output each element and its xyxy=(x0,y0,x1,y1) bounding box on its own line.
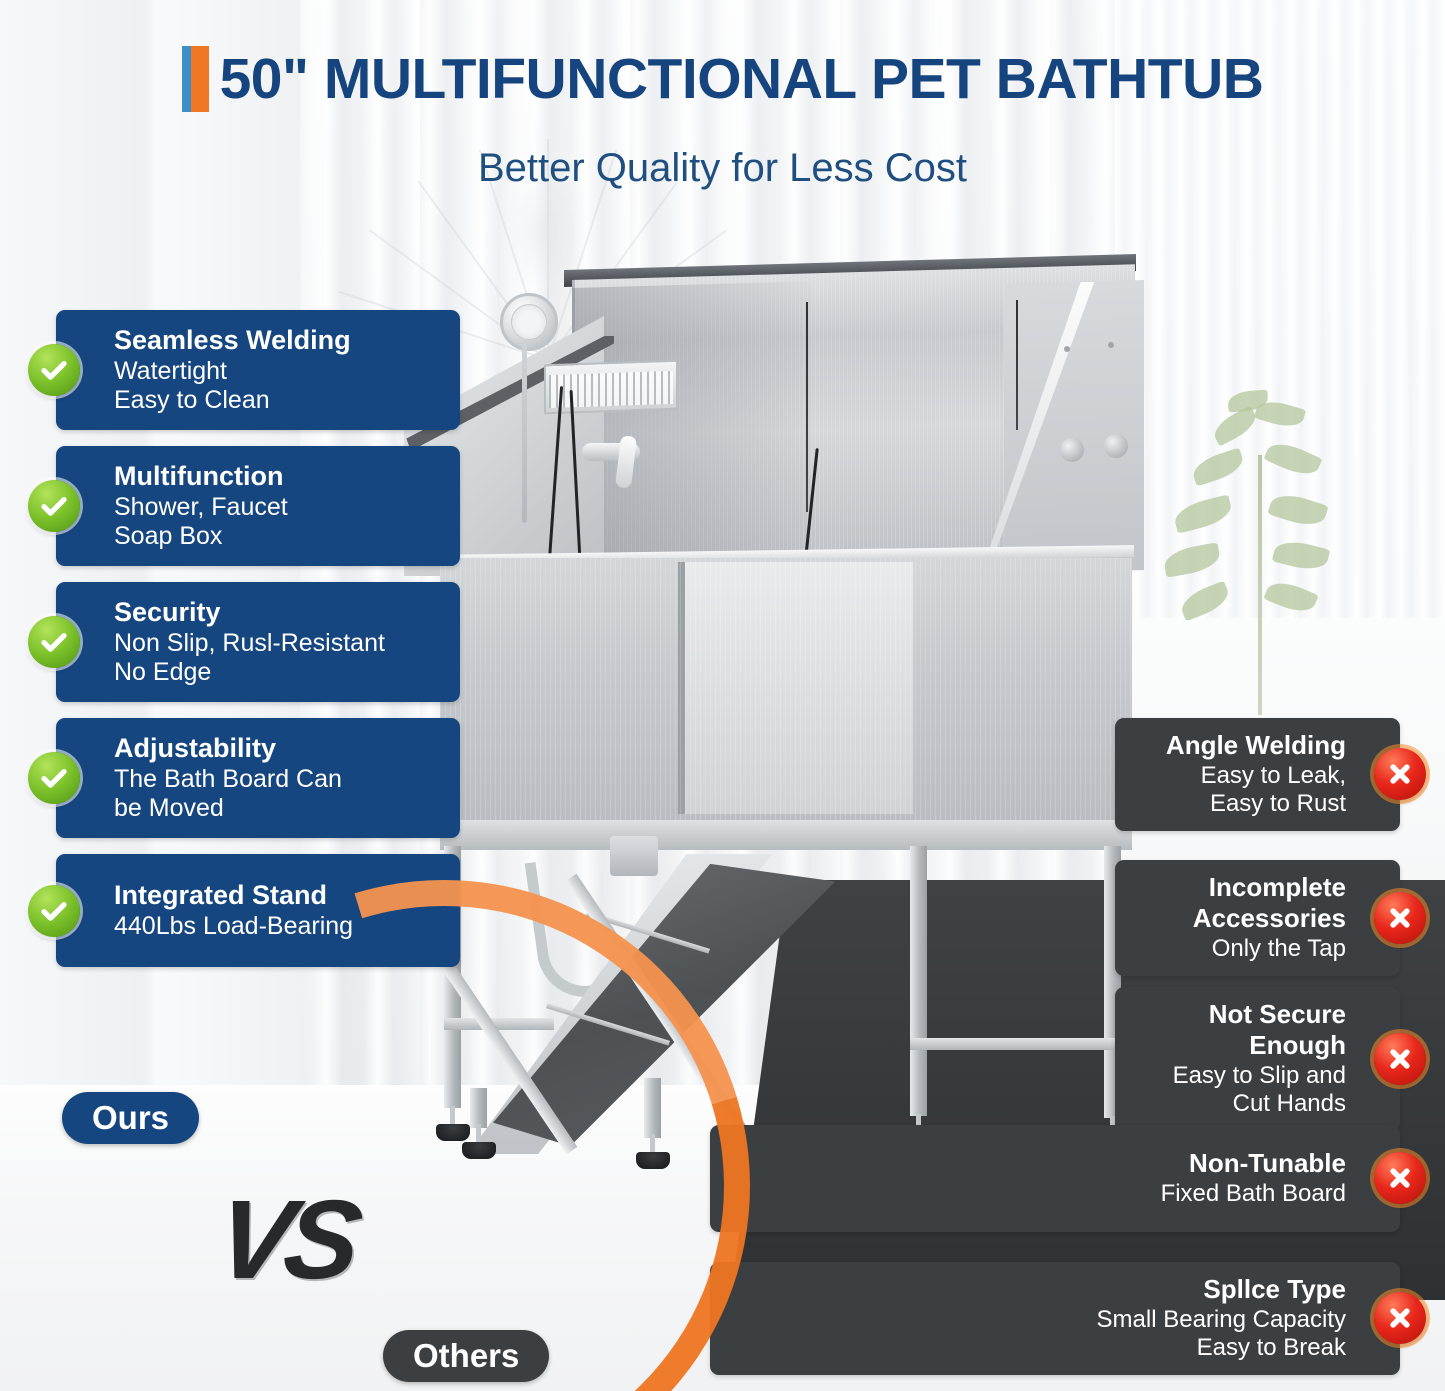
panel-knob-icon xyxy=(1060,438,1084,462)
con-heading-line2: Accessories xyxy=(1133,904,1346,933)
con-heading-line1: Incomplete xyxy=(1133,873,1346,902)
con-item-spllce-type[interactable]: Spllce Type Small Bearing Capacity Easy … xyxy=(710,1262,1400,1375)
check-icon xyxy=(28,885,80,937)
cross-icon xyxy=(1374,892,1426,944)
con-item-not-secure-enough[interactable]: Not Secure Enough Easy to Slip and Cut H… xyxy=(1115,987,1400,1131)
cross-icon xyxy=(1374,1033,1426,1085)
pro-item-seamless-welding[interactable]: Seamless Welding Watertight Easy to Clea… xyxy=(56,310,460,430)
shower-hose-icon xyxy=(522,343,527,523)
con-heading-line1: Not Secure xyxy=(1133,1000,1346,1029)
check-icon xyxy=(28,616,80,668)
drain-icon xyxy=(610,836,658,876)
pro-detail-line2: Soap Box xyxy=(114,522,442,551)
con-detail-line2: Cut Hands xyxy=(1133,1090,1346,1118)
con-detail-line2: Easy to Rust xyxy=(1133,790,1346,818)
cross-icon xyxy=(1374,748,1426,800)
con-heading: Non-Tunable xyxy=(728,1149,1346,1178)
cross-icon xyxy=(1374,1152,1426,1204)
con-heading: Angle Welding xyxy=(1133,731,1346,760)
pro-item-multifunction[interactable]: Multifunction Shower, Faucet Soap Box xyxy=(56,446,460,566)
check-icon xyxy=(28,344,80,396)
pro-detail-line1: Watertight xyxy=(114,357,442,386)
vs-label: VS xyxy=(209,1175,363,1304)
con-item-incomplete-accessories[interactable]: Incomplete Accessories Only the Tap xyxy=(1115,860,1400,976)
pro-detail-line2: Easy to Clean xyxy=(114,386,442,415)
con-detail-line2: Easy to Break xyxy=(728,1334,1346,1362)
pro-detail-line1: Non Slip, Rusl-Resistant xyxy=(114,629,442,658)
pro-detail-line2: No Edge xyxy=(114,658,442,687)
con-item-non-tunable[interactable]: Non-Tunable Fixed Bath Board xyxy=(710,1125,1400,1232)
pro-heading: Security xyxy=(114,597,442,627)
con-heading-line2: Enough xyxy=(1133,1031,1346,1060)
page-title: 50" MULTIFUNCTIONAL PET BATHTUB xyxy=(0,46,1445,117)
con-detail-line1: Only the Tap xyxy=(1133,935,1346,963)
check-icon xyxy=(28,480,80,532)
con-detail-line1: Easy to Leak, xyxy=(1133,762,1346,790)
cross-icon xyxy=(1374,1292,1426,1344)
con-detail-line1: Small Bearing Capacity xyxy=(728,1306,1346,1334)
pro-heading: Multifunction xyxy=(114,461,442,491)
pro-detail-line2: be Moved xyxy=(114,794,442,823)
pro-detail-line1: Shower, Faucet xyxy=(114,493,442,522)
infographic-canvas: 50" MULTIFUNCTIONAL PET BATHTUB Better Q… xyxy=(0,0,1445,1391)
con-item-angle-welding[interactable]: Angle Welding Easy to Leak, Easy to Rust xyxy=(1115,718,1400,831)
con-detail-line1: Fixed Bath Board xyxy=(728,1180,1346,1208)
others-label: Others xyxy=(383,1330,549,1382)
pro-heading: Seamless Welding xyxy=(114,325,442,355)
ours-label: Ours xyxy=(62,1092,199,1144)
check-icon xyxy=(28,752,80,804)
page-subtitle: Better Quality for Less Cost xyxy=(0,146,1445,191)
pro-item-security[interactable]: Security Non Slip, Rusl-Resistant No Edg… xyxy=(56,582,460,702)
con-heading: Spllce Type xyxy=(728,1275,1346,1304)
pro-heading: Adjustability xyxy=(114,733,442,763)
shower-head-icon xyxy=(500,293,558,351)
background-plant-icon xyxy=(1140,385,1400,715)
panel-knob-icon xyxy=(1104,434,1128,458)
soap-box-icon xyxy=(544,360,678,415)
con-detail-line1: Easy to Slip and xyxy=(1133,1062,1346,1090)
page-title-text: 50" MULTIFUNCTIONAL PET BATHTUB xyxy=(220,51,1264,108)
pro-detail-line1: The Bath Board Can xyxy=(114,765,442,794)
accent-bar-icon xyxy=(182,46,209,112)
pro-item-adjustability[interactable]: Adjustability The Bath Board Can be Move… xyxy=(56,718,460,838)
